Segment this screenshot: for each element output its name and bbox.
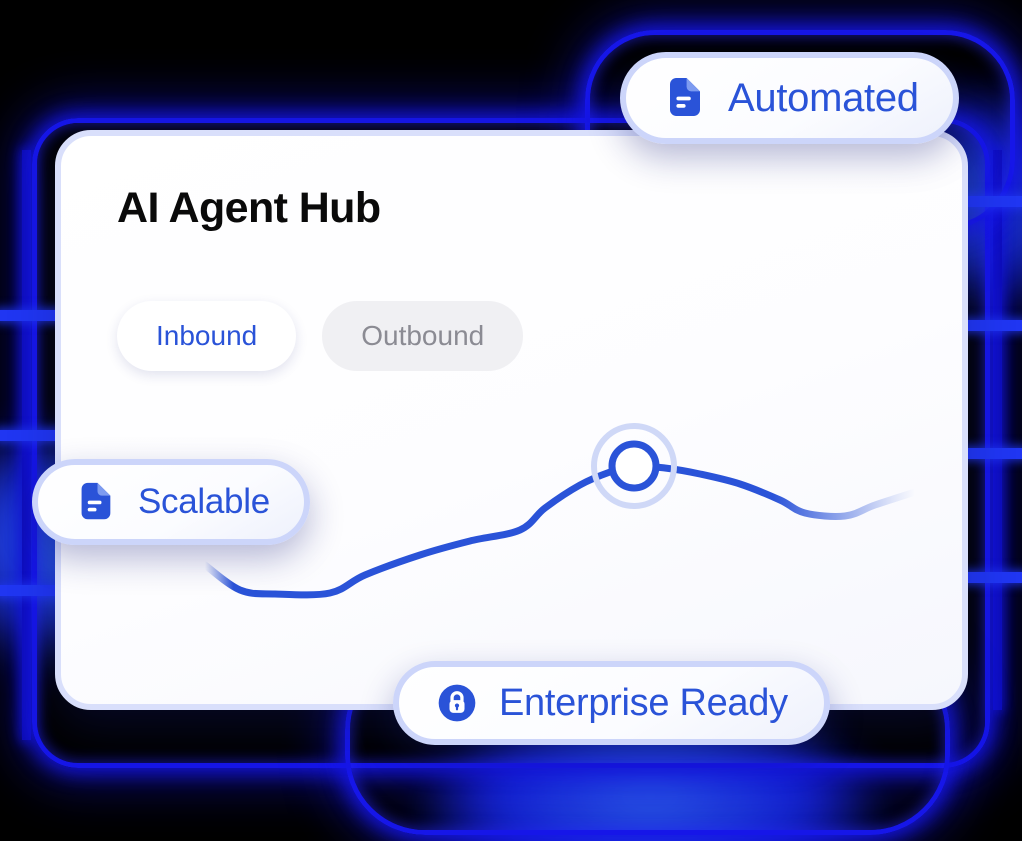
connector-right-3 xyxy=(962,448,1022,459)
ai-agent-hub-card: AI Agent Hub Inbound Outbound xyxy=(55,130,968,710)
page-title: AI Agent Hub xyxy=(117,184,381,233)
badge-scalable[interactable]: Scalable xyxy=(32,459,310,545)
document-icon xyxy=(72,479,118,525)
badge-automated[interactable]: Automated xyxy=(620,52,959,144)
lock-icon xyxy=(435,681,479,725)
chart-marker-point[interactable] xyxy=(612,444,656,488)
connector-right-2 xyxy=(962,320,1022,331)
badge-enterprise-ready[interactable]: Enterprise Ready xyxy=(393,661,830,745)
connector-right-4 xyxy=(962,572,1022,583)
rail-right xyxy=(993,150,1002,710)
chart-marker-halo-icon xyxy=(594,426,674,506)
rail-left xyxy=(22,150,31,740)
connector-left-2 xyxy=(0,430,60,441)
tab-outbound[interactable]: Outbound xyxy=(322,301,523,371)
document-icon xyxy=(660,74,708,122)
badge-scalable-label: Scalable xyxy=(138,482,270,522)
badge-enterprise-label: Enterprise Ready xyxy=(499,682,788,725)
stage: AI Agent Hub Inbound Outbound xyxy=(0,0,1022,841)
tab-group: Inbound Outbound xyxy=(117,301,523,371)
connector-left-1 xyxy=(0,310,60,321)
tab-inbound[interactable]: Inbound xyxy=(117,301,296,371)
connector-left-3 xyxy=(0,585,60,596)
badge-automated-label: Automated xyxy=(728,76,919,121)
connector-right-1 xyxy=(962,196,1022,207)
chart-line-path xyxy=(205,466,915,595)
